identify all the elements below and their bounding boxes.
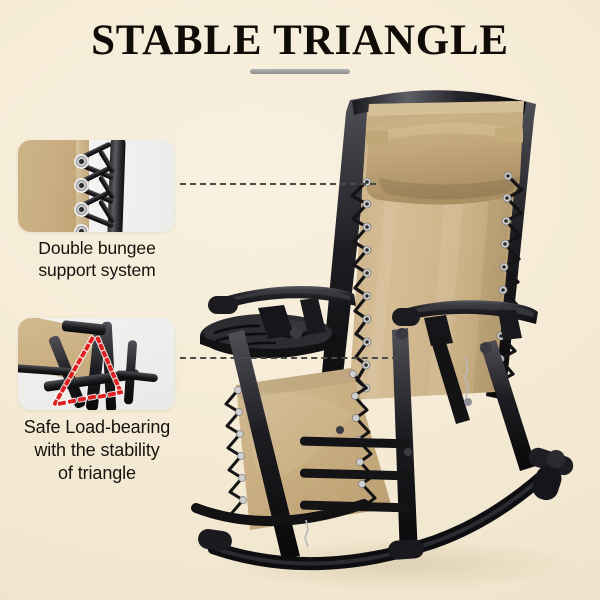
caption-line: Safe Load-bearing — [1, 416, 193, 439]
side-tray-cup-holder — [200, 314, 336, 358]
caption-line: of triangle — [1, 462, 193, 485]
callout-caption-bungee: Double bungee support system — [1, 238, 193, 281]
bungee-grommets-left — [362, 178, 371, 392]
product-chair-illustration — [0, 0, 600, 600]
callout-image-bungee — [18, 140, 175, 232]
product-feature-image: STABLE TRIANGLE Double b — [0, 0, 600, 600]
rocker-base-rail — [214, 468, 552, 564]
armrest-left — [208, 286, 356, 339]
bungee-lacing-right — [498, 176, 522, 382]
grommet — [74, 154, 89, 169]
callout-image-triangle — [18, 318, 175, 410]
connector-line-triangle — [180, 357, 398, 359]
grommet — [74, 224, 89, 232]
grommet — [74, 202, 89, 217]
armrest-right — [392, 300, 538, 346]
headrest-pillow — [366, 115, 522, 205]
caption-line: Double bungee — [1, 238, 193, 260]
grommet — [74, 178, 89, 193]
caption-line: with the stability — [1, 439, 193, 462]
callout-caption-triangle: Safe Load-bearing with the stability of … — [1, 416, 193, 485]
page-title: STABLE TRIANGLE — [0, 19, 600, 62]
title-divider — [250, 69, 350, 74]
caption-line: support system — [1, 260, 193, 282]
connector-line-bungee — [180, 183, 376, 185]
bungee-grommets-right — [494, 172, 512, 386]
footrest-extension — [526, 445, 576, 503]
